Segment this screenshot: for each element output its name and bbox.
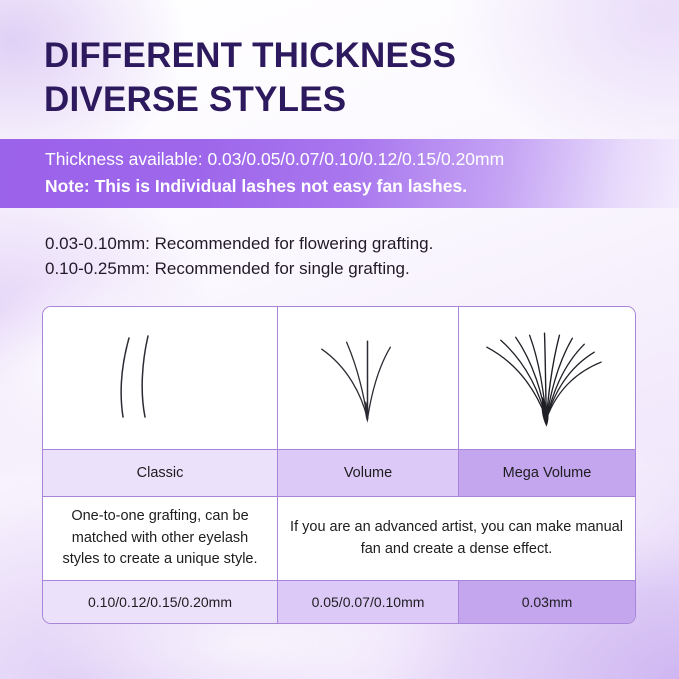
label-cell-volume: Volume	[277, 450, 458, 496]
page-title-line-1: DIFFERENT THICKNESS	[44, 34, 644, 78]
table-row-labels: Classic Volume Mega Volume	[43, 449, 635, 496]
table-row-descriptions: One-to-one grafting, can be matched with…	[43, 496, 635, 580]
volume-fan-illustration-cell	[277, 307, 458, 449]
classic-lash-illustration	[43, 307, 277, 449]
infographic-page: DIFFERENT THICKNESS DIVERSE STYLES Thick…	[0, 0, 679, 679]
thickness-cell-volume: 0.05/0.07/0.10mm	[277, 581, 458, 623]
table-row-illustrations	[43, 307, 635, 449]
page-title: DIFFERENT THICKNESS DIVERSE STYLES	[44, 34, 644, 123]
label-cell-mega-volume: Mega Volume	[458, 450, 635, 496]
volume-fan-illustration	[278, 307, 458, 449]
banner-note-text: Note: This is Individual lashes not easy…	[45, 176, 467, 197]
thickness-available-text: Thickness available: 0.03/0.05/0.07/0.10…	[45, 149, 504, 170]
label-cell-classic: Classic	[43, 450, 277, 496]
recommendation-line-1: 0.03-0.10mm: Recommended for flowering g…	[45, 232, 433, 257]
recommendation-list: 0.03-0.10mm: Recommended for flowering g…	[45, 232, 433, 282]
recommendation-line-2: 0.10-0.25mm: Recommended for single graf…	[45, 257, 433, 282]
thickness-banner: Thickness available: 0.03/0.05/0.07/0.10…	[0, 139, 679, 208]
mega-volume-fan-illustration	[459, 307, 635, 449]
thickness-cell-classic: 0.10/0.12/0.15/0.20mm	[43, 581, 277, 623]
lash-style-comparison-table: Classic Volume Mega Volume One-to-one gr…	[42, 306, 636, 624]
description-cell-classic: One-to-one grafting, can be matched with…	[43, 497, 277, 580]
description-cell-volume-mega: If you are an advanced artist, you can m…	[277, 497, 635, 580]
table-row-thickness: 0.10/0.12/0.15/0.20mm 0.05/0.07/0.10mm 0…	[43, 580, 635, 623]
classic-lash-illustration-cell	[43, 307, 277, 449]
page-title-line-2: DIVERSE STYLES	[44, 78, 644, 122]
thickness-cell-mega-volume: 0.03mm	[458, 581, 635, 623]
mega-volume-fan-illustration-cell	[458, 307, 635, 449]
